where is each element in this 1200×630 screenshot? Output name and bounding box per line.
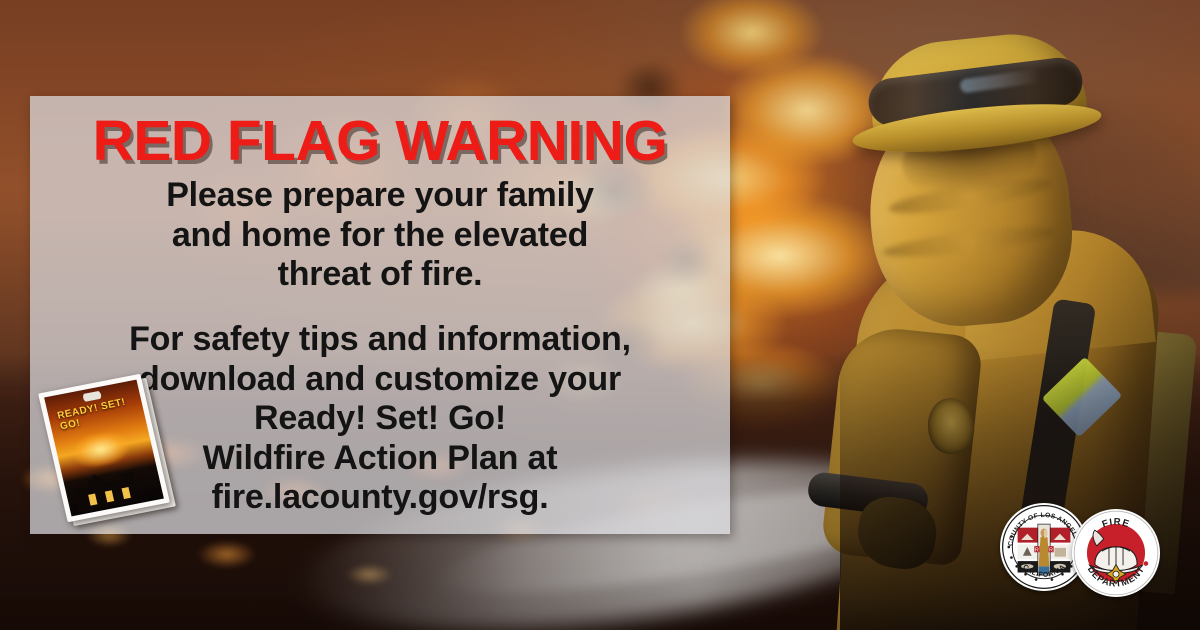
svg-text:R: R	[1049, 547, 1053, 553]
red-flag-warning-poster: RED FLAG WARNING Please prepare your fam…	[0, 0, 1200, 630]
message-primary-line-3: threat of fire.	[56, 255, 704, 294]
fire-department-seal-icon: FIRE DEPARTMENT	[1072, 509, 1160, 597]
brochure-cover-title: READY! SET! GO!	[57, 395, 136, 432]
brochure-logo-icon	[82, 390, 102, 402]
message-primary-line-1: Please prepare your family	[56, 176, 704, 215]
brochure-cover-art: READY! SET! GO!	[44, 380, 164, 517]
message-primary: Please prepare your family and home for …	[56, 176, 704, 294]
svg-text:R: R	[1035, 547, 1039, 553]
brochure-fire-glow	[71, 429, 130, 470]
message-secondary-line-1: For safety tips and information,	[56, 320, 704, 359]
agency-seals: R R COUNTY OF LOS ANGELES CALIFORNIA	[1000, 503, 1175, 598]
message-secondary-line-2: download and customize your	[56, 360, 704, 399]
page-title: RED FLAG WARNING	[56, 112, 704, 170]
message-primary-line-2: and home for the elevated	[56, 216, 704, 255]
